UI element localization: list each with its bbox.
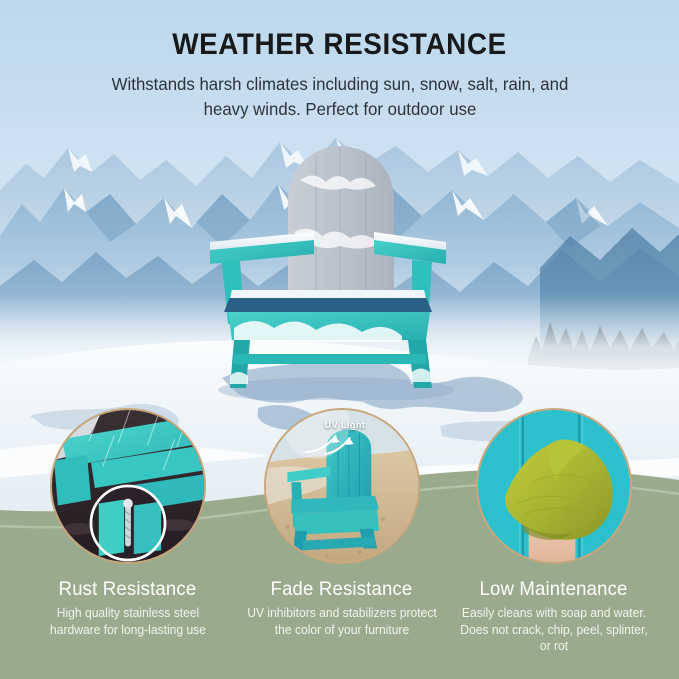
feature-card-fade-resistance[interactable]: UV Light Fade Resistance UV inhibitors a… — [234, 408, 449, 638]
low-maintenance-photo — [478, 410, 630, 562]
card-description: Easily cleans with soap and water. Does … — [458, 605, 650, 655]
card-title: Low Maintenance — [451, 578, 655, 600]
rust-resistance-photo — [52, 410, 204, 562]
feature-cards: Rust Resistance High quality stainless s… — [0, 408, 679, 679]
adirondack-chair-illustration — [188, 140, 468, 400]
infographic-canvas: WEATHER RESISTANCE Withstands harsh clim… — [0, 0, 679, 679]
fade-resistance-thumb[interactable]: UV Light — [264, 408, 420, 564]
card-description: High quality stainless steel hardware fo… — [32, 605, 224, 638]
rust-resistance-thumb[interactable] — [50, 408, 206, 564]
page-title: WEATHER RESISTANCE — [24, 0, 655, 62]
uv-light-label: UV Light — [324, 420, 365, 431]
page-subtitle: Withstands harsh climates including sun,… — [100, 72, 580, 122]
low-maintenance-thumb[interactable] — [476, 408, 632, 564]
header: WEATHER RESISTANCE Withstands harsh clim… — [0, 0, 679, 122]
card-title: Rust Resistance — [25, 578, 229, 600]
hero-chair-image — [188, 140, 468, 400]
card-title: Fade Resistance — [239, 578, 443, 600]
feature-card-low-maintenance[interactable]: Low Maintenance Easily cleans with soap … — [446, 408, 661, 655]
feature-card-rust-resistance[interactable]: Rust Resistance High quality stainless s… — [20, 408, 235, 638]
card-description: UV inhibitors and stabilizers protect th… — [246, 605, 438, 638]
uv-light-arrows-icon — [303, 432, 365, 458]
